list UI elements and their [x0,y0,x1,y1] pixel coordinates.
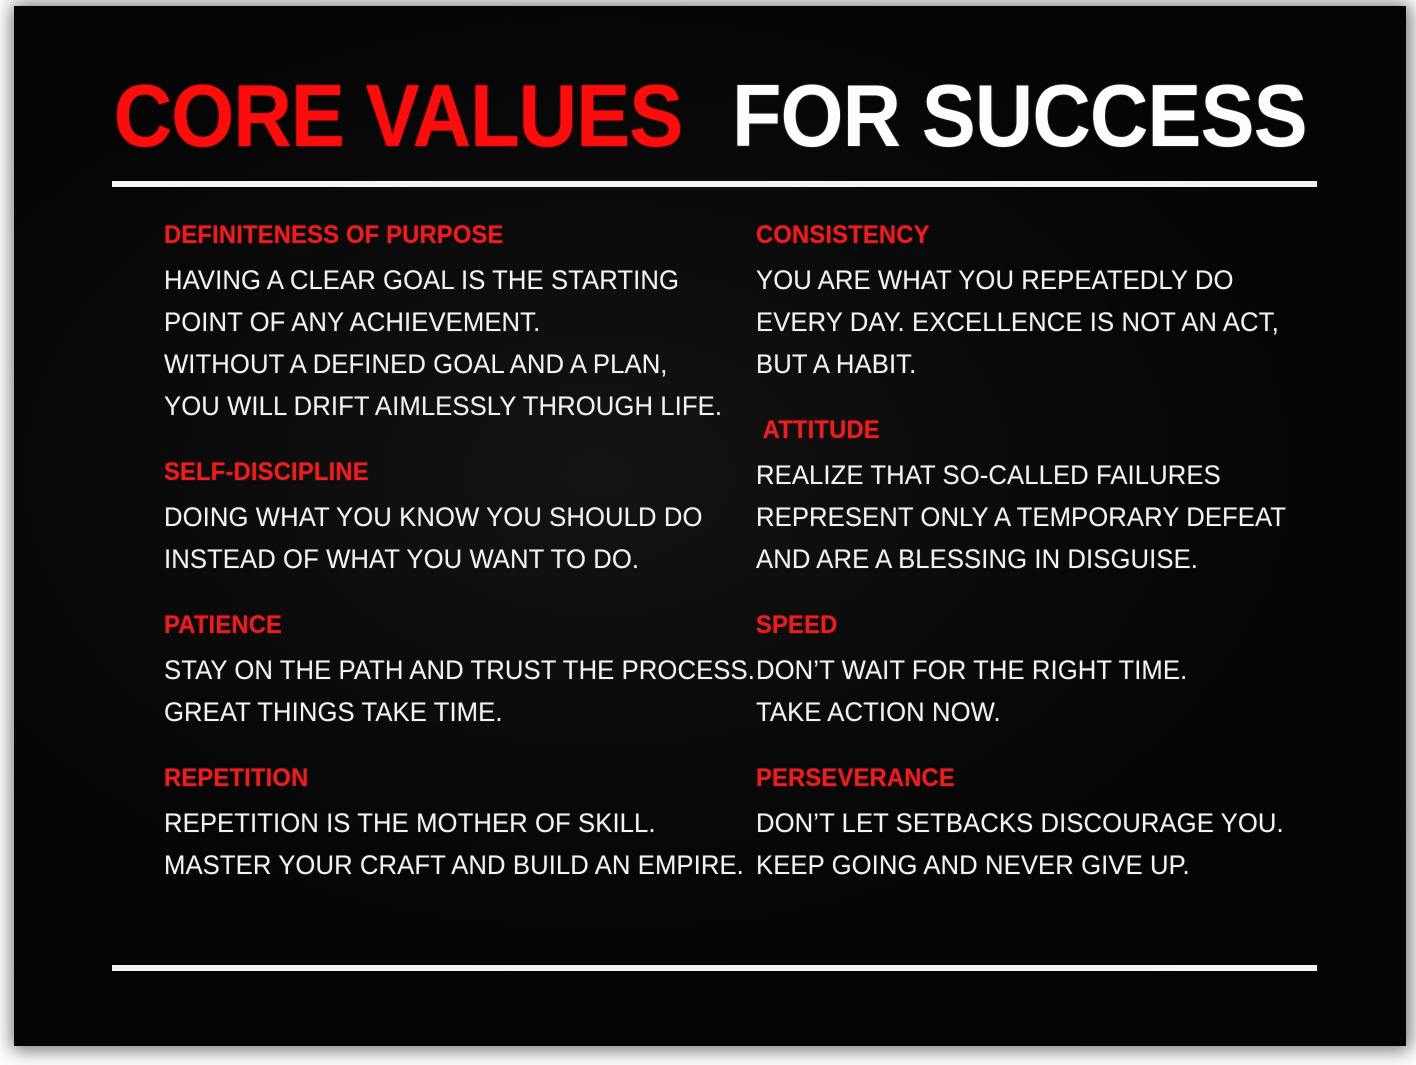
value-heading: PERSEVERANCE [756,761,1355,795]
value-body-line: INSTEAD OF WHAT YOU WANT TO DO. [164,538,763,580]
values-column-left: DEFINITENESS OF PURPOSEHAVING A CLEAR GO… [164,218,794,886]
value-heading: SPEED [756,608,1355,642]
title-red-segment: CORE VALUES [113,72,682,160]
value-heading: DEFINITENESS OF PURPOSE [164,218,763,252]
title-white-segment: FOR SUCCESS [732,72,1307,160]
value-block: REPETITIONREPETITION IS THE MOTHER OF SK… [164,761,794,886]
values-columns: DEFINITENESS OF PURPOSEHAVING A CLEAR GO… [14,218,1406,948]
value-heading: ATTITUDE [756,413,1355,447]
divider-bottom [112,965,1317,971]
poster-page: CORE VALUES FOR SUCCESS DEFINITENESS OF … [0,0,1416,1065]
value-heading: REPETITION [164,761,763,795]
value-body-line: STAY ON THE PATH AND TRUST THE PROCESS. [164,649,763,691]
value-body-line: DOING WHAT YOU KNOW YOU SHOULD DO [164,496,763,538]
value-body-line: BUT A HABIT. [756,343,1355,385]
value-heading: CONSISTENCY [756,218,1355,252]
value-body-line: GREAT THINGS TAKE TIME. [164,691,763,733]
value-body-line: KEEP GOING AND NEVER GIVE UP. [756,844,1355,886]
value-block: SELF-DISCIPLINEDOING WHAT YOU KNOW YOU S… [164,455,794,580]
value-block: CONSISTENCYYOU ARE WHAT YOU REPEATEDLY D… [756,218,1386,385]
value-body-line: HAVING A CLEAR GOAL IS THE STARTING [164,259,763,301]
value-body-line: POINT OF ANY ACHIEVEMENT. [164,301,763,343]
value-heading: PATIENCE [164,608,763,642]
value-body-line: EVERY DAY. EXCELLENCE IS NOT AN ACT, [756,301,1355,343]
divider-top [112,181,1317,187]
value-block: PERSEVERANCEDON’T LET SETBACKS DISCOURAG… [756,761,1386,886]
value-body-line: REPRESENT ONLY A TEMPORARY DEFEAT [756,496,1355,538]
values-column-right: CONSISTENCYYOU ARE WHAT YOU REPEATEDLY D… [756,218,1386,886]
value-body-line: YOU WILL DRIFT AIMLESSLY THROUGH LIFE. [164,385,763,427]
value-block: PATIENCESTAY ON THE PATH AND TRUST THE P… [164,608,794,733]
value-body-line: WITHOUT A DEFINED GOAL AND A PLAN, [164,343,763,385]
value-body-line: YOU ARE WHAT YOU REPEATEDLY DO [756,259,1355,301]
value-block: SPEEDDON’T WAIT FOR THE RIGHT TIME.TAKE … [756,608,1386,733]
value-body-line: DON’T WAIT FOR THE RIGHT TIME. [756,649,1355,691]
value-body-line: TAKE ACTION NOW. [756,691,1355,733]
value-body-line: DON’T LET SETBACKS DISCOURAGE YOU. [756,802,1355,844]
value-body-line: AND ARE A BLESSING IN DISGUISE. [756,538,1355,580]
value-body-line: REPETITION IS THE MOTHER OF SKILL. [164,802,763,844]
value-block: DEFINITENESS OF PURPOSEHAVING A CLEAR GO… [164,218,794,427]
value-body-line: REALIZE THAT SO-CALLED FAILURES [756,454,1355,496]
page-title: CORE VALUES FOR SUCCESS [14,72,1406,160]
motivational-poster: CORE VALUES FOR SUCCESS DEFINITENESS OF … [14,6,1406,1046]
value-body-line: MASTER YOUR CRAFT AND BUILD AN EMPIRE. [164,844,763,886]
value-block: ATTITUDEREALIZE THAT SO-CALLED FAILURESR… [756,413,1386,580]
value-heading: SELF-DISCIPLINE [164,455,763,489]
